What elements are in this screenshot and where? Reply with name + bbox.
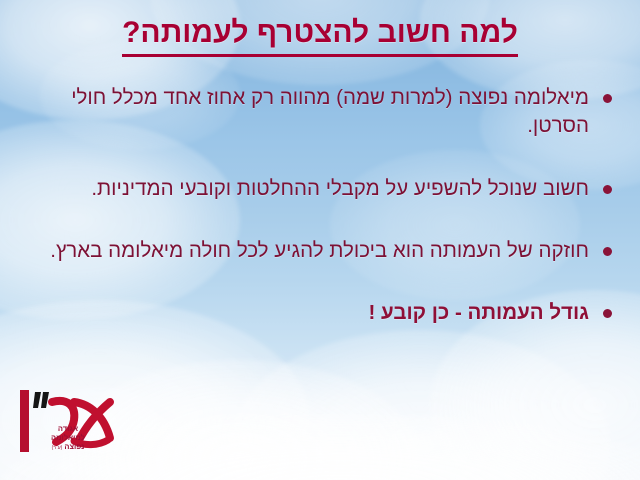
- bullet-text: חוזקה של העמותה הוא ביכולת להגיע לכל חול…: [40, 237, 589, 265]
- bullet-dot-icon: [603, 309, 612, 318]
- presentation-slide: למה חשוב להצטרף לעמותה? מיאלומה נפוצה (ל…: [0, 0, 640, 480]
- logo-line-3: נפוצה (ע"ר): [42, 443, 94, 452]
- bullet-item: מיאלומה נפוצה (למרות שמה) מהווה רק אחוז …: [40, 84, 612, 141]
- bullet-text: חשוב שנוכל להשפיע על מקבלי ההחלטות וקובע…: [40, 175, 589, 203]
- bullet-list: מיאלומה נפוצה (למרות שמה) מהווה רק אחוז …: [40, 84, 612, 361]
- slide-title: למה חשוב להצטרף לעמותה?: [122, 16, 518, 57]
- bullet-item-emphasis: גודל העמותה - כן קובע !: [40, 299, 612, 327]
- bullet-dot-icon: [603, 185, 612, 194]
- slide-title-container: למה חשוב להצטרף לעמותה?: [0, 16, 640, 57]
- bullet-text: גודל העמותה - כן קובע !: [40, 299, 589, 327]
- logo-line-3-text: נפוצה: [64, 442, 84, 451]
- bullet-dot-icon: [603, 247, 612, 256]
- bullet-item: חשוב שנוכל להשפיע על מקבלי ההחלטות וקובע…: [40, 175, 612, 203]
- logo-caption: אגודה למיאלומה נפוצה (ע"ר): [42, 425, 94, 452]
- organization-logo: אגודה למיאלומה נפוצה (ע"ר): [12, 386, 122, 468]
- bullet-dot-icon: [603, 94, 612, 103]
- bullet-text: מיאלומה נפוצה (למרות שמה) מהווה רק אחוז …: [40, 84, 589, 141]
- bullet-item: חוזקה של העמותה הוא ביכולת להגיע לכל חול…: [40, 237, 612, 265]
- logo-registered-mark: (ע"ר): [52, 445, 63, 451]
